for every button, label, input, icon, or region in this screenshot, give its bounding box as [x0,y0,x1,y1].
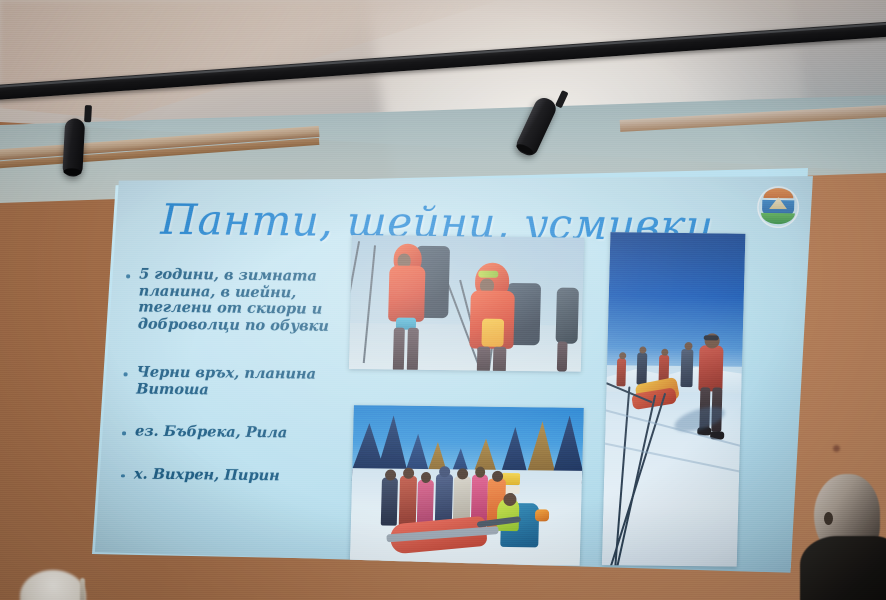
projection-screen-wrap: Панти, шейни, усмивки 5 години, в зимнат… [0,0,886,600]
slide-photo-rope [602,232,746,567]
slide-bullet-item: ез. Бъбрека, Рила [117,423,367,443]
photo-content [349,235,584,372]
presentation-slide: Панти, шейни, усмивки 5 години, в зимнат… [92,166,818,575]
foreground-object-stem [80,578,85,600]
slide-photo-group [350,405,584,566]
slide-bullet-item: х. Вихрен, Пирин [116,466,366,486]
wall-marking [833,445,840,452]
organization-logo [757,186,800,229]
audience-member-silhouette [796,474,886,600]
photo-content [350,405,584,566]
slide-bullet-item: 5 години, в зимната планина, в шейни, те… [120,266,372,335]
slide-photo-skiers [349,235,584,372]
slide-bullet-item: Черни връх, планина Витоша [118,364,369,400]
audience-ear [824,512,833,525]
slide-bullet-list: 5 години, в зимната планина, в шейни, те… [116,266,372,485]
projection-room-scene: Панти, шейни, усмивки 5 години, в зимнат… [0,0,886,600]
audience-shoulder [800,536,886,600]
photo-content [602,232,746,567]
